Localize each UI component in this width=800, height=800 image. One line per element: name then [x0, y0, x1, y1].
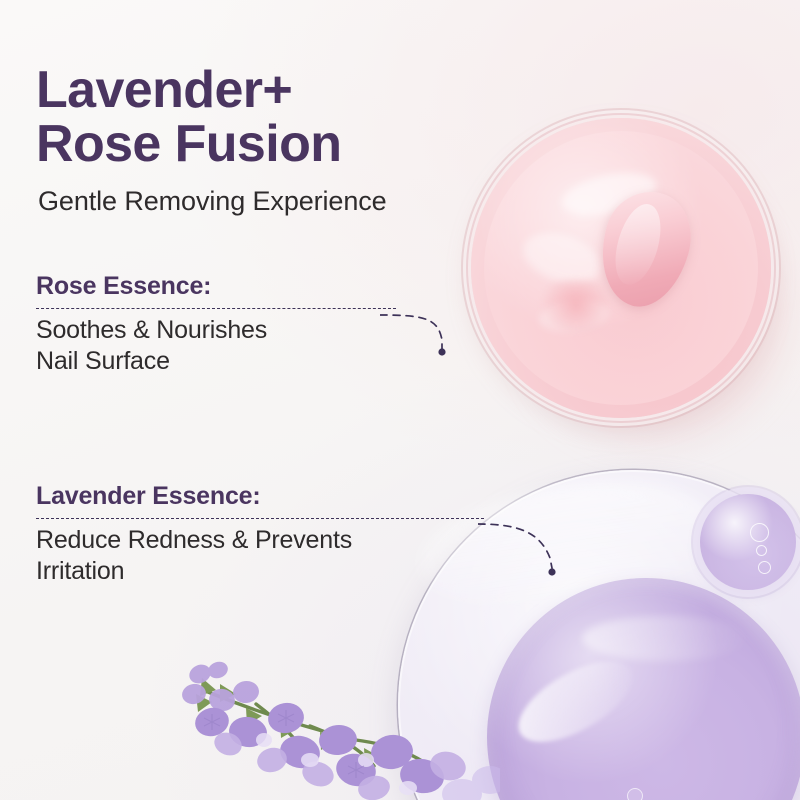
- product-poster: Lavender+ Rose Fusion Gentle Removing Ex…: [0, 0, 800, 800]
- gel-droplet-image: [700, 494, 796, 590]
- page-title: Lavender+ Rose Fusion: [36, 64, 341, 171]
- feature-divider: [36, 518, 484, 519]
- gel-gloss: [582, 616, 747, 661]
- gel-pink-swirl: [533, 279, 619, 331]
- feature-description: Reduce Redness & Prevents Irritation: [36, 525, 466, 588]
- text-column: Lavender+ Rose Fusion Gentle Removing Ex…: [36, 0, 506, 800]
- gel-bubble: [627, 788, 643, 800]
- rose-jar-image: [471, 118, 771, 418]
- feature-divider: [36, 308, 396, 309]
- droplet-bubble: [758, 561, 771, 574]
- droplet-bubble: [756, 545, 767, 556]
- gel-gloss: [507, 645, 646, 758]
- droplet-bubble: [750, 523, 769, 542]
- feature-rose-essence: Rose Essence: Soothes & Nourishes Nail S…: [36, 272, 466, 378]
- rose-jar-gel: [484, 131, 758, 405]
- feature-title: Rose Essence:: [36, 272, 466, 301]
- feature-lavender-essence: Lavender Essence: Reduce Redness & Preve…: [36, 482, 466, 588]
- page-subtitle: Gentle Removing Experience: [38, 186, 387, 217]
- feature-description: Soothes & Nourishes Nail Surface: [36, 315, 466, 378]
- feature-title: Lavender Essence:: [36, 482, 466, 511]
